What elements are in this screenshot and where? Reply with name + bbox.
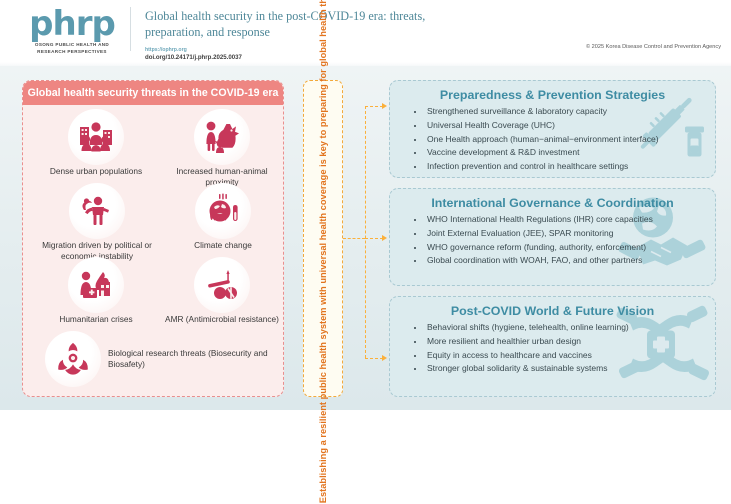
strategy-panel-title: Preparedness & Prevention Strategies bbox=[390, 81, 715, 105]
strategy-list-item: Joint External Evaluation (JEE), SPAR mo… bbox=[414, 227, 715, 241]
connector-branch-3 bbox=[365, 358, 383, 359]
threat-label: Climate change bbox=[194, 240, 252, 251]
city-crowd-icon bbox=[68, 109, 124, 165]
header-text-block: Global health security in the post-COVID… bbox=[131, 0, 731, 62]
copyright-notice: © 2025 Korea Disease Control and Prevent… bbox=[586, 44, 721, 50]
threat-item-migration[interactable]: Migration driven by political or economi… bbox=[31, 183, 163, 261]
strategy-list-item: Stronger global solidarity & sustainable… bbox=[414, 362, 715, 376]
threats-panel: Global health security threats in the CO… bbox=[22, 80, 284, 397]
strategy-list-item: WHO International Health Regulations (IH… bbox=[414, 213, 715, 227]
threat-label: AMR (Antimicrobial resistance) bbox=[165, 314, 279, 325]
page-header: phrp OSONG PUBLIC HEALTH AND RESEARCH PE… bbox=[0, 0, 731, 62]
threat-item-human-animal-proximity[interactable]: Increased human-animal proximity bbox=[168, 109, 276, 187]
strategy-list-item: More resilient and healthier urban desig… bbox=[414, 335, 715, 349]
strategy-list-item: Infection prevention and control in heal… bbox=[414, 160, 715, 174]
connector-arrow-2 bbox=[382, 235, 387, 241]
threat-item-humanitarian-crises[interactable]: Humanitarian crises bbox=[37, 257, 155, 325]
strategy-list-item: WHO governance reform (funding, authorit… bbox=[414, 241, 715, 255]
threat-item-dense-urban-populations[interactable]: Dense urban populations bbox=[37, 109, 155, 177]
connector-branch-1 bbox=[365, 106, 383, 107]
human-animal-icon bbox=[194, 109, 250, 165]
logo-subtitle: OSONG PUBLIC HEALTH AND RESEARCH PERSPEC… bbox=[20, 42, 124, 55]
strategy-list-item: One Health approach (human−animal−enviro… bbox=[414, 133, 715, 147]
strategy-list-item: Equity in access to healthcare and vacci… bbox=[414, 349, 715, 363]
journal-logo: phrp OSONG PUBLIC HEALTH AND RESEARCH PE… bbox=[0, 0, 130, 56]
biohazard-icon bbox=[45, 331, 101, 387]
logo-wordmark: phrp bbox=[29, 8, 115, 40]
connector-arrow-3 bbox=[382, 355, 387, 361]
threat-label: Dense urban populations bbox=[50, 166, 142, 177]
threats-grid: Dense urban populations bbox=[23, 105, 283, 397]
threat-label: Biological research threats (Biosecurity… bbox=[108, 348, 275, 369]
strategy-panel-governance: International Governance & Coordination … bbox=[389, 188, 716, 286]
strategy-list-item: Strengthened surveillance & laboratory c… bbox=[414, 105, 715, 119]
key-message-text: Establishing a resilient public health s… bbox=[316, 0, 330, 504]
strategy-list: Strengthened surveillance & laboratory c… bbox=[390, 105, 715, 174]
threats-panel-header: Global health security threats in the CO… bbox=[23, 81, 283, 105]
strategy-panel-future-vision: Post-COVID World & Future Vision Behavio… bbox=[389, 296, 716, 397]
key-message-box: Establishing a resilient public health s… bbox=[303, 80, 343, 397]
strategy-list-item: Behavioral shifts (hygiene, telehealth, … bbox=[414, 321, 715, 335]
strategy-panel-title: Post-COVID World & Future Vision bbox=[390, 297, 715, 321]
threat-item-climate-change[interactable]: Climate change bbox=[175, 183, 271, 251]
connector-trunk-vertical bbox=[365, 106, 366, 358]
strategy-list-item: Global coordination with WOAH, FAO, and … bbox=[414, 254, 715, 268]
strategy-panel-preparedness: Preparedness & Prevention Strategies Str… bbox=[389, 80, 716, 178]
strategy-list-item: Vaccine development & R&D investment bbox=[414, 146, 715, 160]
threat-item-biological-research[interactable]: Biological research threats (Biosecurity… bbox=[45, 331, 275, 387]
threat-item-amr[interactable]: AMR (Antimicrobial resistance) bbox=[165, 257, 279, 325]
strategy-panel-title: International Governance & Coordination bbox=[390, 189, 715, 213]
threats-panel-title: Global health security threats in the CO… bbox=[28, 87, 279, 99]
antimicrobial-resistance-icon bbox=[194, 257, 250, 313]
infographic-canvas: Global health security threats in the CO… bbox=[0, 66, 731, 410]
connector-trunk-feed bbox=[343, 238, 365, 239]
strategy-list-item: Universal Health Coverage (UHC) bbox=[414, 119, 715, 133]
migration-icon bbox=[69, 183, 125, 239]
strategy-list: Behavioral shifts (hygiene, telehealth, … bbox=[390, 321, 715, 376]
melting-globe-icon bbox=[195, 183, 251, 239]
connector-branch-2 bbox=[365, 238, 383, 239]
page-title: Global health security in the post-COVID… bbox=[145, 8, 445, 40]
strategy-list: WHO International Health Regulations (IH… bbox=[390, 213, 715, 268]
doi-link[interactable]: doi.org/10.24171/j.phrp.2025.0037 bbox=[145, 54, 731, 62]
threat-label: Humanitarian crises bbox=[59, 314, 132, 325]
crisis-fire-icon bbox=[68, 257, 124, 313]
connector-arrow-1 bbox=[382, 103, 387, 109]
